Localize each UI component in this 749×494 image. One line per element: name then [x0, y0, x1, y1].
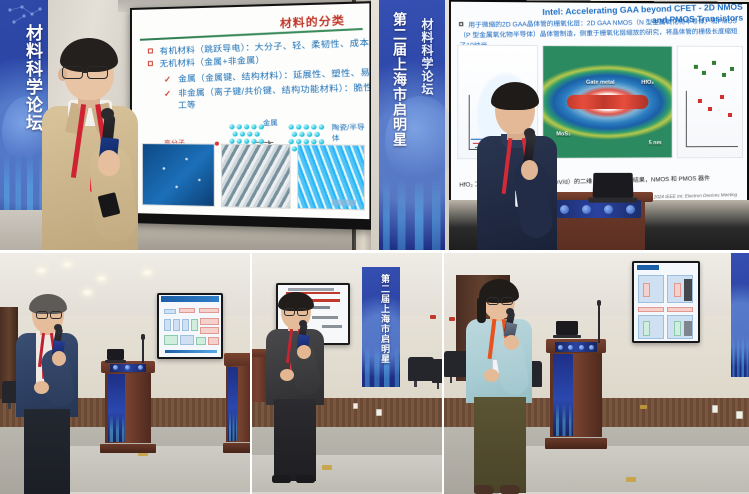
- exit-sign: [430, 315, 436, 319]
- slide-image-polymer: [142, 143, 215, 207]
- microphone-head: [506, 308, 514, 315]
- figure-label-mos2: MoS₂: [556, 132, 570, 138]
- bullet-square-icon: [459, 22, 463, 26]
- lectern-foot: [223, 443, 250, 453]
- figure-label-scalebar: 5 nm: [649, 140, 662, 146]
- glasses-icon: [284, 308, 295, 316]
- hair: [278, 292, 314, 311]
- wall-display: [157, 293, 223, 359]
- collage-panel-bottom-middle: 第二届上海市启明星: [252, 253, 442, 494]
- lectern-logo-3: [138, 365, 143, 370]
- lectern-top: [224, 353, 250, 366]
- slide-header-band: [161, 296, 219, 302]
- lectern-foot: [545, 438, 607, 449]
- lectern-logo-1: [113, 365, 118, 370]
- laptop: [556, 321, 578, 335]
- trousers: [24, 409, 70, 494]
- trousers: [474, 397, 526, 493]
- channel-core-graphic: [567, 95, 649, 108]
- trousers: [274, 399, 316, 481]
- shoe-left: [474, 485, 494, 494]
- photo-collage: 材料科学论坛 材料的分类 有机材料（跳跃导电）：大分子、轻、柔韧性、成本低、迁 …: [0, 0, 749, 494]
- floor-marker: [640, 405, 647, 409]
- collage-panel-bottom-left: [0, 253, 250, 494]
- shoe-right: [296, 475, 315, 483]
- slide-title: 材料的分类: [280, 12, 346, 32]
- shoe-left: [272, 475, 291, 483]
- display-screen: [634, 263, 698, 341]
- lectern: [550, 339, 602, 449]
- wall-display: [632, 261, 700, 343]
- slide-image-metal-micrograph: [221, 144, 291, 209]
- collage-panel-top-right: 第二届上海市启明星 材料科学论坛 Intel: Accelerating GAA…: [371, 0, 749, 250]
- exit-sign: [449, 317, 455, 321]
- glasses-icon: [62, 66, 116, 79]
- glasses-icon: [36, 311, 48, 319]
- microphone-head: [54, 324, 62, 331]
- lectern-logo-strip: [110, 364, 147, 372]
- lectern-logo-4: [626, 205, 635, 214]
- figure-label-ceramic: 陶瓷/半导体: [332, 122, 370, 144]
- hair-side: [477, 297, 486, 323]
- vertical-led-poster: [731, 253, 749, 377]
- hand-left: [34, 381, 49, 394]
- lectern-logo-4: [589, 345, 594, 350]
- lectern-logo-3: [579, 345, 584, 350]
- speaker-bottom-right: [466, 283, 536, 493]
- forum-banner-text: 材料科学论坛: [5, 24, 41, 132]
- laptop: [593, 173, 634, 198]
- hand-left: [484, 369, 499, 382]
- collage-panel-bottom-right: [444, 253, 749, 494]
- speaker-top-right: [477, 86, 557, 250]
- lectern-led-panel: [553, 200, 641, 218]
- hair: [29, 294, 67, 314]
- slide-logo: [332, 199, 356, 206]
- presentation-display: 材料的分类 有机材料（跳跃导电）：大分子、轻、柔韧性、成本低、迁 无机材料（金属…: [130, 1, 371, 230]
- conference-room: 第二届上海市启明星: [252, 253, 442, 494]
- check-icon: ✓: [164, 88, 172, 98]
- lectern-logo-2: [582, 205, 591, 214]
- glasses-icon: [487, 297, 499, 305]
- hand-right: [521, 160, 538, 180]
- glasses-icon: [50, 311, 62, 319]
- shoe-right: [500, 485, 520, 494]
- glasses-icon: [501, 297, 513, 305]
- hand-right: [52, 351, 66, 366]
- ceiling-light: [142, 269, 153, 276]
- lectern-led-panel: [553, 354, 573, 435]
- wall-socket: [353, 403, 358, 409]
- city-skyline-graphic: [379, 178, 445, 250]
- microphone-head: [299, 320, 307, 327]
- hand-right: [504, 335, 519, 350]
- laptop: [107, 349, 124, 360]
- display-screen: [159, 295, 221, 357]
- hand-right: [98, 150, 120, 176]
- speaker-top-left: [38, 42, 150, 250]
- check-icon: ✓: [164, 74, 172, 84]
- hair: [491, 82, 539, 110]
- conference-room: [0, 253, 250, 494]
- microphone-stand: [598, 305, 600, 343]
- lectern-logo-1: [560, 205, 569, 214]
- hand-left: [280, 369, 294, 381]
- monomer-dot-graphic: [215, 142, 219, 146]
- lectern-foot: [100, 444, 155, 453]
- wall-socket: [712, 405, 718, 413]
- wall-socket: [376, 409, 382, 416]
- ceiling-light: [62, 261, 73, 268]
- lectern-logo-3: [604, 205, 613, 214]
- slide-bullet-5: 工等: [178, 98, 196, 111]
- city-skyline-graphic: [731, 335, 749, 377]
- stage-platform: [499, 446, 749, 494]
- stage-platform: [60, 446, 250, 494]
- poster-banner-text: 第二届上海市启明星: [373, 274, 389, 364]
- chair: [444, 351, 468, 377]
- lectern-logo-2: [125, 365, 130, 370]
- lectern-logo-1: [558, 345, 563, 350]
- speaker-bottom-middle: [266, 295, 324, 481]
- collage-panel-top-left: 材料科学论坛 材料的分类 有机材料（跳跃导电）：大分子、轻、柔韧性、成本低、迁 …: [0, 0, 371, 250]
- figure-scatter-benchmark: [677, 46, 743, 159]
- vertical-led-poster: 第二届上海市启明星: [362, 267, 400, 387]
- microphone-stand: [142, 339, 144, 363]
- lectern-led-panel: [228, 367, 239, 441]
- chair: [432, 359, 442, 383]
- microphone-head: [101, 108, 114, 120]
- speaker-bottom-left: [14, 297, 82, 494]
- ceiling-light: [82, 289, 93, 296]
- lectern-secondary: [226, 353, 250, 453]
- floor-marker: [626, 477, 636, 482]
- hand-right: [297, 345, 311, 359]
- lectern-logo-2: [568, 345, 573, 350]
- chair: [408, 357, 434, 381]
- ceiling-light: [36, 267, 47, 274]
- figure-tem-cross-section: Gate metal HfO₂ MoS₂ 5 nm: [542, 45, 673, 159]
- figure-label-hfo2: HfO₂: [641, 80, 654, 86]
- conference-room: [444, 253, 749, 494]
- glasses-icon: [297, 308, 308, 316]
- microphone-head: [524, 128, 535, 138]
- ceiling-light: [96, 275, 107, 282]
- forum-banner-primary-text: 第二届上海市启明星: [385, 12, 407, 147]
- lectern-logo-strip: [555, 342, 597, 352]
- wall-socket: [736, 411, 743, 419]
- slide-surface: 材料的分类 有机材料（跳跃导电）：大分子、轻、柔韧性、成本低、迁 无机材料（金属…: [132, 3, 369, 219]
- forum-banner-secondary-text: 材料科学论坛: [413, 18, 433, 96]
- lectern: [105, 361, 151, 453]
- figure-label-gate-metal: Gate metal: [586, 80, 615, 86]
- lectern-led-panel: [108, 374, 125, 442]
